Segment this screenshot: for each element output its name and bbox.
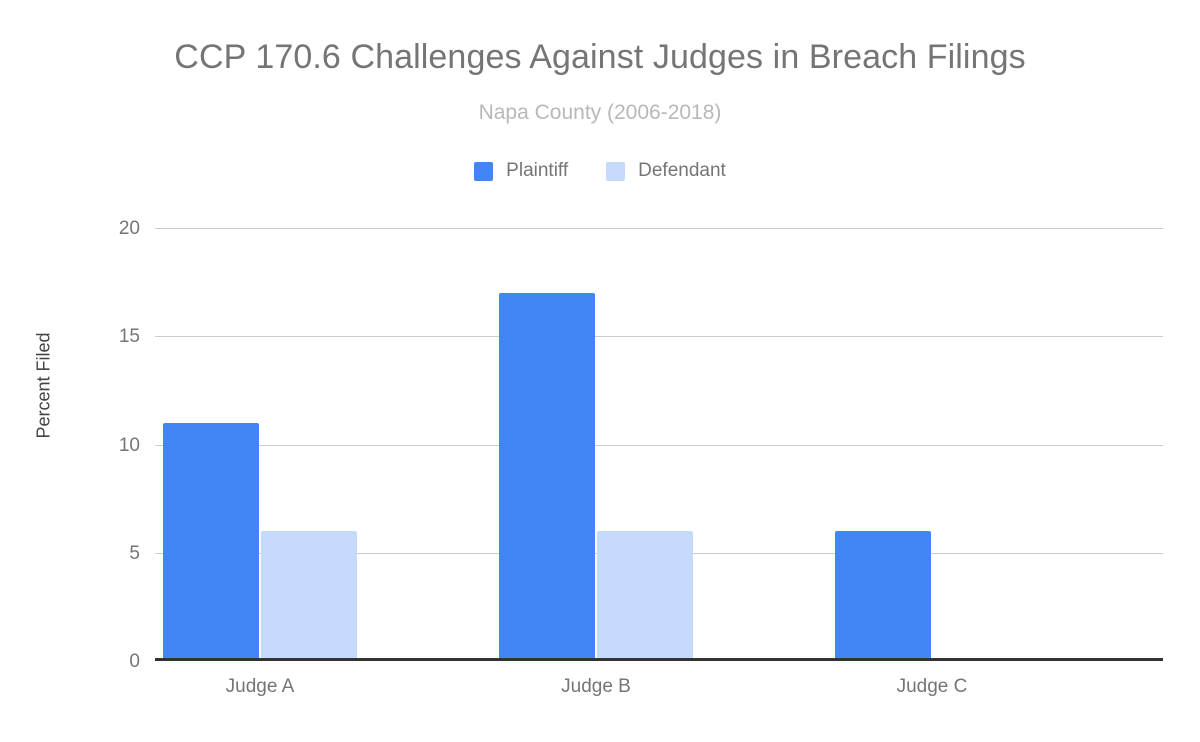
- chart-legend: Plaintiff Defendant: [0, 160, 1200, 182]
- bar-plaintiff-judge-c[interactable]: [835, 531, 931, 661]
- gridline: [155, 336, 1163, 337]
- legend-swatch-icon-defendant: [606, 162, 625, 181]
- x-axis-line: [155, 658, 1163, 661]
- gridline: [155, 445, 1163, 446]
- legend-label-defendant: Defendant: [638, 160, 726, 182]
- y-axis-tick-label: 5: [80, 544, 140, 563]
- bar-chart: CCP 170.6 Challenges Against Judges in B…: [0, 0, 1200, 742]
- bar-plaintiff-judge-b[interactable]: [499, 293, 595, 661]
- bar-defendant-judge-a[interactable]: [261, 531, 357, 661]
- legend-item-plaintiff[interactable]: Plaintiff: [474, 160, 568, 182]
- legend-label-plaintiff: Plaintiff: [506, 160, 568, 182]
- y-axis-tick-label: 10: [80, 436, 140, 455]
- legend-item-defendant[interactable]: Defendant: [606, 160, 726, 182]
- bar-plaintiff-judge-a[interactable]: [163, 423, 259, 661]
- chart-subtitle: Napa County (2006-2018): [0, 101, 1200, 125]
- x-axis-tick-label: Judge C: [835, 676, 1029, 698]
- plot-area: [155, 228, 1163, 661]
- gridline: [155, 228, 1163, 229]
- y-axis-tick-label: 15: [80, 327, 140, 346]
- legend-swatch-icon-plaintiff: [474, 162, 493, 181]
- y-axis-tick-label: 20: [80, 219, 140, 238]
- chart-title: CCP 170.6 Challenges Against Judges in B…: [0, 38, 1200, 77]
- x-axis-tick-label: Judge A: [163, 676, 357, 698]
- x-axis-tick-label: Judge B: [499, 676, 693, 698]
- bar-defendant-judge-b[interactable]: [597, 531, 693, 661]
- y-axis-tick-label: 0: [80, 652, 140, 671]
- y-axis-title-text: Percent Filed: [34, 332, 55, 438]
